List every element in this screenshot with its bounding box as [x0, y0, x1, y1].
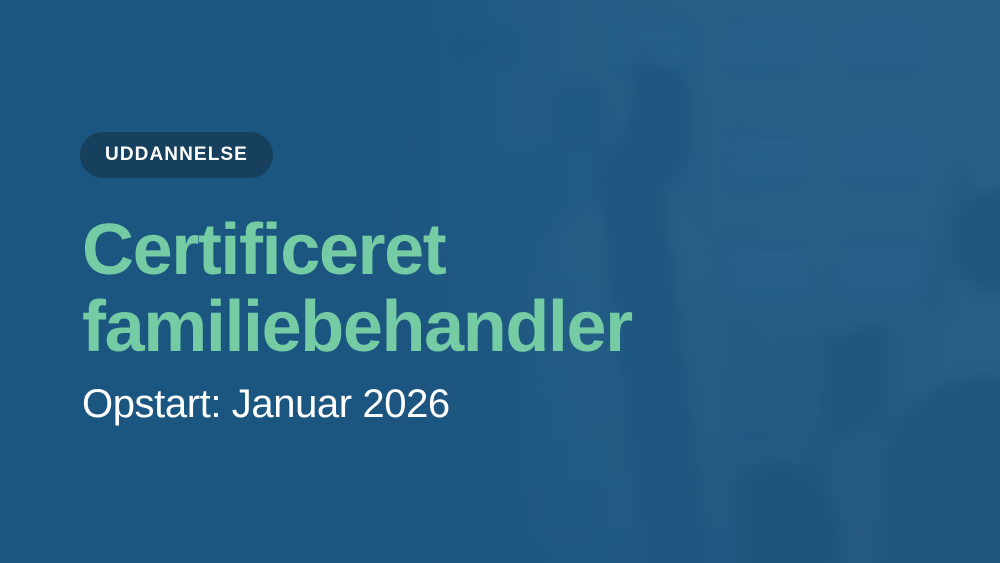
- hero-banner: UDDANNELSE Certificeret familiebehandler…: [0, 0, 1000, 563]
- hero-content: UDDANNELSE Certificeret familiebehandler…: [80, 0, 840, 563]
- page-title: Certificeret familiebehandler: [82, 212, 840, 366]
- start-date-subtitle: Opstart: Januar 2026: [82, 382, 840, 427]
- category-badge: UDDANNELSE: [80, 132, 273, 178]
